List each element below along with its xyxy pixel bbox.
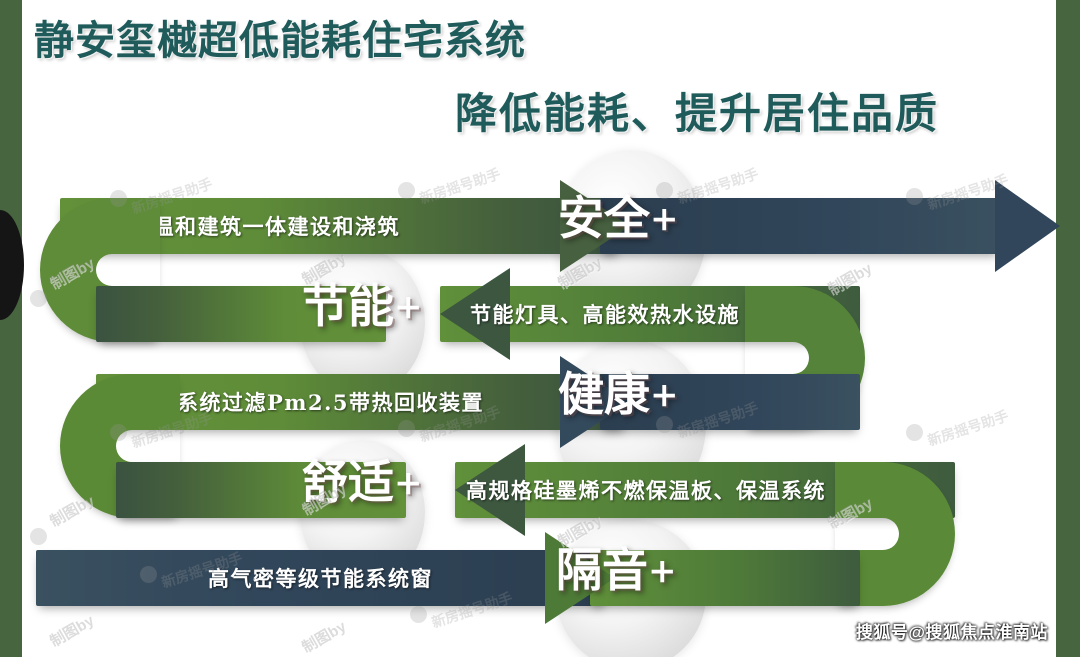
watermark-badge-icon <box>30 528 47 545</box>
row-1-pillar-plus: + <box>650 199 679 239</box>
watermark-badge-icon <box>410 606 427 623</box>
row-2-pillar-text: 节能 <box>302 279 394 333</box>
row-5-pillar-plus: + <box>648 551 677 591</box>
row-4-pillar-text: 舒适 <box>302 455 394 509</box>
watermark-badge-icon <box>906 424 923 441</box>
row-3-pillar-text: 健康 <box>558 367 650 421</box>
right-edge-strip <box>1056 0 1080 657</box>
row-1-description: 保温和建筑一体建设和浇筑 <box>130 216 400 237</box>
left-edge-strip <box>0 0 22 657</box>
row-5-description: 高气密等级节能系统窗 <box>208 568 433 589</box>
watermark-tile-b: 新房摇号助手 <box>925 406 1011 451</box>
row-2-pillar-plus: + <box>394 287 423 327</box>
row-4-pillar-label: 舒适+ <box>302 459 423 505</box>
source-watermark: 搜狐号@搜狐焦点淮南站 <box>856 618 1048 643</box>
row-4-pillar-plus: + <box>394 463 423 503</box>
page-title: 静安玺樾超低能耗住宅系统 <box>34 8 526 66</box>
row-2-description: 节能灯具、高能效热水设施 <box>470 304 740 325</box>
row-4-description: 高规格硅墨烯不燃保温板、保温系统 <box>466 480 826 501</box>
row-1-terminal-arrow-icon <box>995 180 1060 272</box>
watermark-badge-icon <box>398 182 415 199</box>
row-5-pillar-text: 隔音 <box>556 543 648 597</box>
row-3-pillar-plus: + <box>650 375 679 415</box>
row-2-pillar-label: 节能+ <box>302 283 423 329</box>
row-3-pillar-label: 健康+ <box>558 371 679 417</box>
row-5-pillar-label: 隔音+ <box>556 547 677 593</box>
row-1-pillar-text: 安全 <box>558 191 650 245</box>
row-3-description: 新风系统过滤Pm2.5带热回收装置 <box>132 392 484 413</box>
row-1-pillar-label: 安全+ <box>558 195 679 241</box>
slide-canvas: 静安玺樾超低能耗住宅系统 降低能耗、提升居住品质 保温和建筑一体建设和浇筑 安全… <box>0 0 1080 657</box>
page-subtitle: 降低能耗、提升居住品质 <box>455 80 939 141</box>
watermark-tile: 制图by <box>298 616 350 657</box>
watermark-tile: 制图by <box>46 610 98 652</box>
